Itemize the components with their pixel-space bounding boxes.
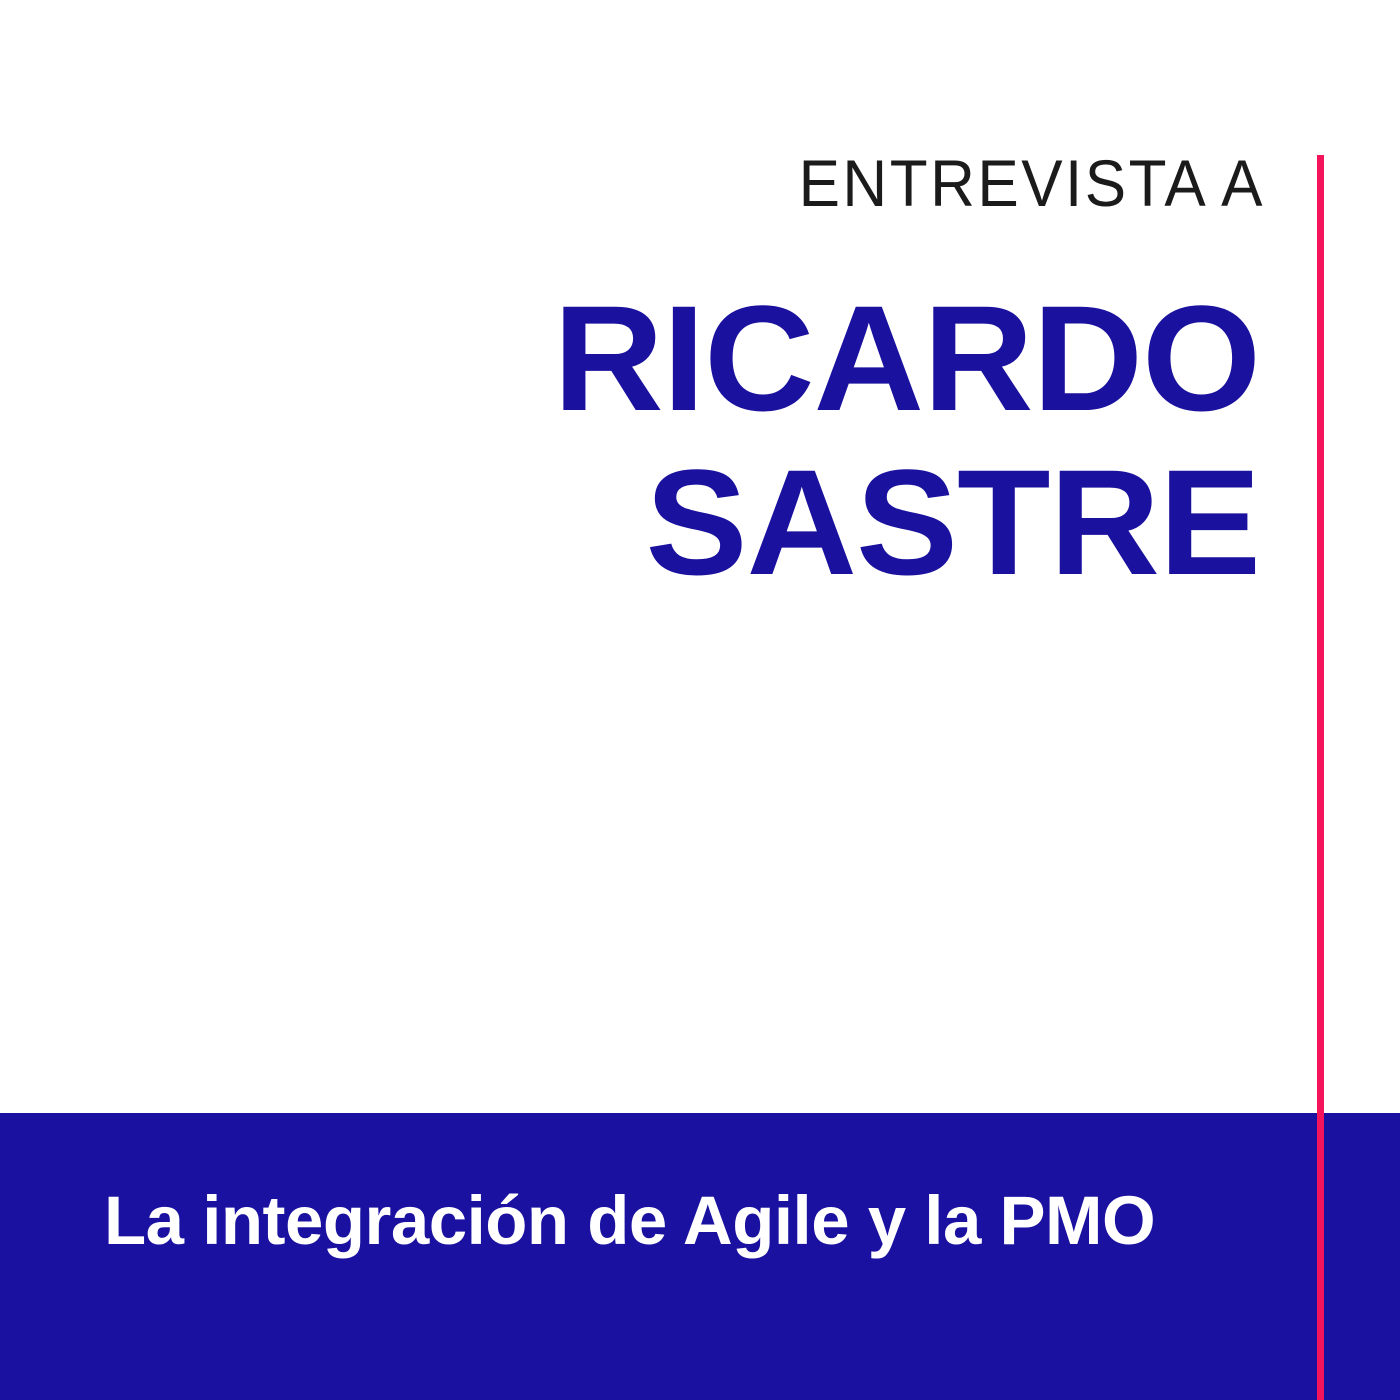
interview-promo-poster: ENTREVISTA A RICARDO SASTRE La integraci… [0, 0, 1400, 1400]
guest-name-block: RICARDO SASTRE [280, 286, 1260, 595]
poster-upper-region: ENTREVISTA A RICARDO SASTRE [0, 0, 1400, 1113]
guest-first-name: RICARDO [260, 286, 1260, 432]
vertical-accent-rule [1317, 155, 1324, 1400]
episode-title: La integración de Agile y la PMO [104, 1186, 1264, 1255]
kicker-label: ENTREVISTA A [365, 152, 1265, 218]
guest-last-name: SASTRE [260, 450, 1260, 596]
